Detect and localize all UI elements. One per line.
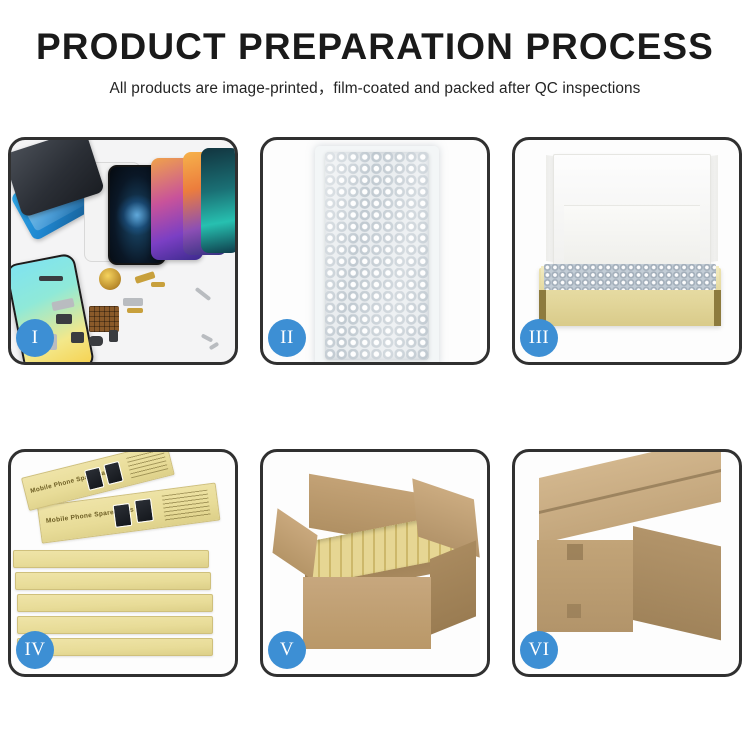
retail-box-bottom-3: [17, 594, 213, 612]
page-title: PRODUCT PREPARATION PROCESS: [0, 26, 750, 67]
step-badge-4: IV: [16, 631, 54, 669]
sealed-carton-top-face: [539, 452, 721, 544]
part-module: [56, 314, 72, 324]
part-button: [109, 330, 118, 342]
inner-box-bubble-contents: [544, 264, 716, 290]
carton-front-face: [303, 577, 431, 649]
sealed-carton-side-face: [633, 526, 721, 640]
sealed-carton-front-face: [537, 540, 633, 632]
part-connector-gold: [151, 282, 165, 287]
part-speaker: [71, 332, 84, 343]
retail-box-bottom-2: [17, 616, 213, 634]
retail-box-screen-1b: [103, 461, 124, 485]
retail-box-bottom-4: [15, 572, 211, 590]
step-panel-4: Mobile Phone Spare Parts Mobile Phone Sp…: [8, 449, 238, 677]
part-contact-strip: [127, 308, 143, 313]
sealed-carton-tab-upper: [567, 544, 583, 560]
part-flex-right: [123, 298, 143, 306]
part-chip-array: [89, 306, 119, 332]
retail-box-bottom-5: [13, 550, 209, 568]
page-subtitle: All products are image-printed，film-coat…: [0, 76, 750, 98]
product-preparation-infographic: PRODUCT PREPARATION PROCESS All products…: [0, 0, 750, 750]
step-panel-1: I: [8, 137, 238, 365]
sealed-carton-tab-lower: [567, 604, 581, 618]
bubble-wrap-sheet: [325, 152, 429, 360]
step-panel-3: III: [512, 137, 742, 365]
process-steps-grid: I II III: [8, 137, 742, 677]
step-badge-5: V: [268, 631, 306, 669]
part-tool-tweezer: [195, 287, 212, 301]
retail-box-screen-2a: [113, 503, 133, 528]
phone-screen-teal: [201, 148, 235, 253]
part-screw-a: [201, 333, 213, 342]
step-panel-2: II: [260, 137, 490, 365]
step-badge-2: II: [268, 319, 306, 357]
inner-box-lid: [553, 154, 711, 272]
retail-box-spec-text-1: [126, 452, 168, 480]
part-camera: [89, 336, 103, 346]
step-badge-6: VI: [520, 631, 558, 669]
step-panel-6: VI: [512, 449, 742, 677]
part-bracket: [39, 276, 63, 281]
inner-box-corner-right: [714, 290, 721, 326]
header: PRODUCT PREPARATION PROCESS All products…: [0, 0, 750, 98]
step-badge-3: III: [520, 319, 558, 357]
step-panel-5: V: [260, 449, 490, 677]
part-screw-b: [209, 342, 220, 351]
step-badge-1: I: [16, 319, 54, 357]
retail-box-spec-text-2: [162, 490, 211, 522]
retail-box-screen-2b: [134, 498, 154, 523]
part-gold-coil: [99, 268, 121, 290]
